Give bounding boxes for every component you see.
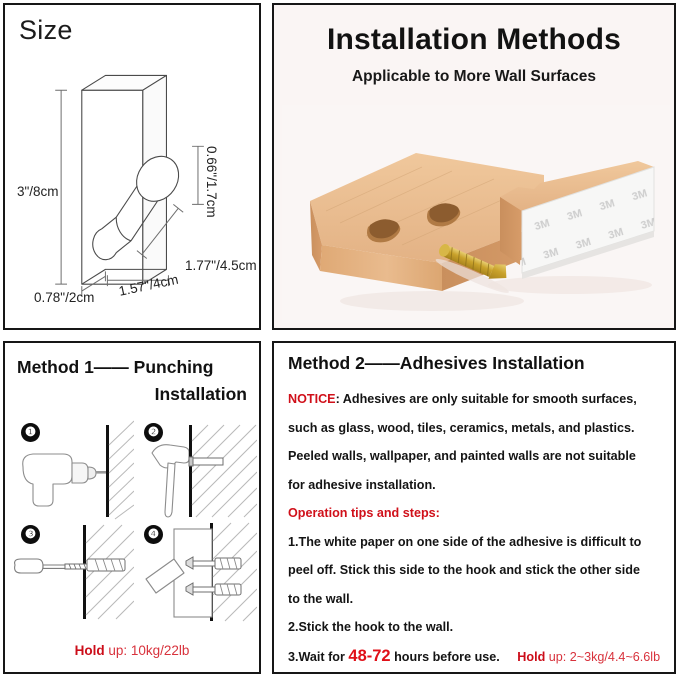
wall-anchor [189,457,223,466]
notice-line-2: such as glass, wood, tiles, ceramics, me… [288,414,664,443]
adhesive-instructions: NOTICE: Adhesives are only suitable for … [288,385,664,671]
adhesive-step-2: 2.Stick the hook to the wall. [288,613,664,642]
installation-methods-title: Installation Methods [274,23,674,57]
step-3-badge: ❸ [21,525,40,544]
step-3-suffix: hours before use. [394,650,500,664]
adhesive-hold-value: up: 2~3kg/4.4~6.6lb [549,650,660,664]
adhesive-step-1-line-1: 1.The white paper on one side of the adh… [288,528,664,557]
wall-hatch [213,523,257,621]
product-photo-illustration: 3M [282,105,670,323]
notice-line-1: NOTICE: Adhesives are only suitable for … [288,385,664,414]
step-2-badge: ❷ [144,423,163,442]
installation-methods-panel: Installation Methods Applicable to More … [272,3,676,330]
adhesive-step-1-line-2: peel off. Stick this side to the hook an… [288,556,664,585]
notice-line-4: for adhesive installation. [288,471,664,500]
wall-hatch [86,525,134,619]
step-4-badge: ❹ [144,525,163,544]
wait-hours-value: 48-72 [348,647,390,665]
adhesive-hold-capacity: Hold up: 2~3kg/4.4~6.6lb [517,650,660,664]
notice-text-1: : Adhesives are only suitable for smooth… [336,392,637,406]
dimension-height-label: 3"/8cm [17,184,59,199]
adhesive-hold-label: Hold [517,650,545,664]
dimension-hook-length-label: 1.77"/4.5cm [185,258,257,273]
punching-hold-value: up: 10kg/22lb [108,643,189,658]
punching-steps-grid: ❶ [11,419,257,624]
size-panel: Size [3,3,261,330]
punching-hold-capacity: Hold up: 10kg/22lb [5,643,259,658]
step-4: ❹ [134,521,257,623]
product-photo: 3M [282,105,670,323]
punching-hold-label: Hold [75,643,105,658]
step-1-badge: ❶ [21,423,40,442]
notice-line-3: Peeled walls, wallpaper, and painted wal… [288,442,664,471]
screw-in-anchor [65,559,125,571]
step-3-prefix: 3.Wait for [288,650,345,664]
notice-label: NOTICE [288,392,336,406]
method-1-title-line2: Installation [17,381,253,408]
method-1-title-line1: Method 1—— Punching [17,357,213,377]
instruction-sheet: Size [0,0,679,678]
wall-hatch [192,425,257,517]
wall-hatch [109,421,134,519]
punching-installation-panel: Method 1—— Punching Installation ❶ [3,341,261,674]
step-1: ❶ [11,419,134,521]
operation-tips-header: Operation tips and steps: [288,499,664,528]
adhesive-step-3: 3.Wait for 48-72 hours before use. Hold … [288,642,664,672]
dimension-depth-label: 0.78"/2cm [34,290,94,305]
installation-methods-subtitle: Applicable to More Wall Surfaces [274,68,674,86]
dimension-hook-diameter-label: 0.66"/1.7cm [204,146,219,218]
adhesive-step-1-line-3: to the wall. [288,585,664,614]
hook-dimension-drawing [5,5,259,328]
method-1-title: Method 1—— Punching Installation [17,354,253,408]
step-3: ❸ [11,521,134,623]
step-2: ❷ [134,419,257,521]
adhesive-installation-panel: Method 2——Adhesives Installation NOTICE:… [272,341,676,674]
method-2-title: Method 2——Adhesives Installation [288,353,585,374]
